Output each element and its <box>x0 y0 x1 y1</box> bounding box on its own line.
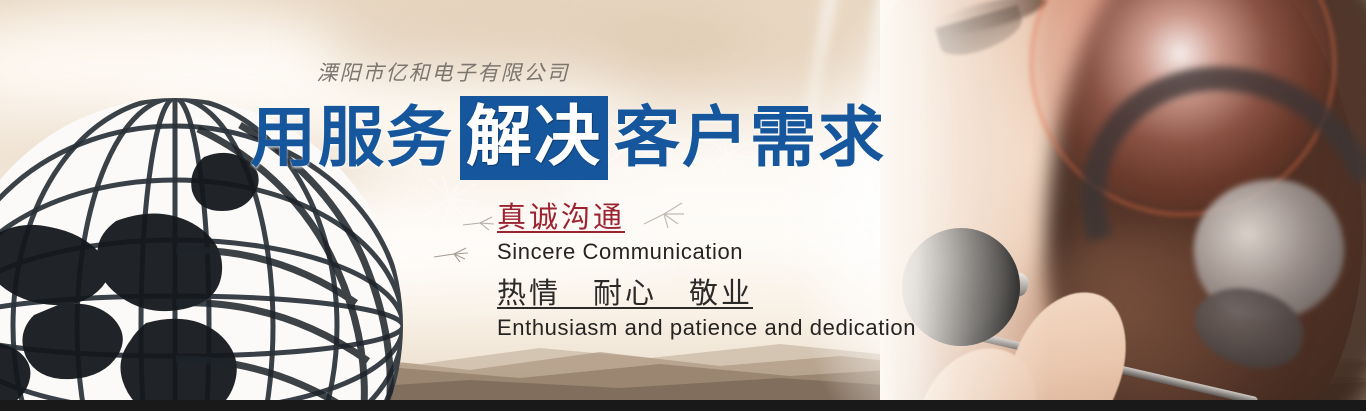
slogan-en-2: Enthusiasm and patience and dedication <box>497 314 916 342</box>
hero-banner: 溧阳市亿和电子有限公司 用服务 解决 客户需求 真诚沟通 Sincere Com… <box>0 0 1366 411</box>
slogan-en-1: Sincere Communication <box>497 238 916 266</box>
slogan-row: 真诚沟通 Sincere Communication <box>497 200 916 266</box>
bottom-strip <box>0 400 1366 411</box>
headline-before: 用服务 <box>250 105 454 171</box>
slogan-block: 真诚沟通 Sincere Communication 热情 耐心 敬业 Enth… <box>497 200 916 351</box>
headline-highlight: 解决 <box>460 96 608 180</box>
company-name: 溧阳市亿和电子有限公司 <box>0 57 1366 87</box>
slogan-row: 热情 耐心 敬业 Enthusiasm and patience and ded… <box>497 276 916 342</box>
slogan-cn-1: 真诚沟通 <box>497 200 916 234</box>
headline: 用服务 解决 客户需求 <box>250 96 886 180</box>
slogan-cn-2: 热情 耐心 敬业 <box>497 276 916 310</box>
microphone-foam-head <box>902 228 1020 346</box>
headline-after: 客户需求 <box>614 105 886 171</box>
